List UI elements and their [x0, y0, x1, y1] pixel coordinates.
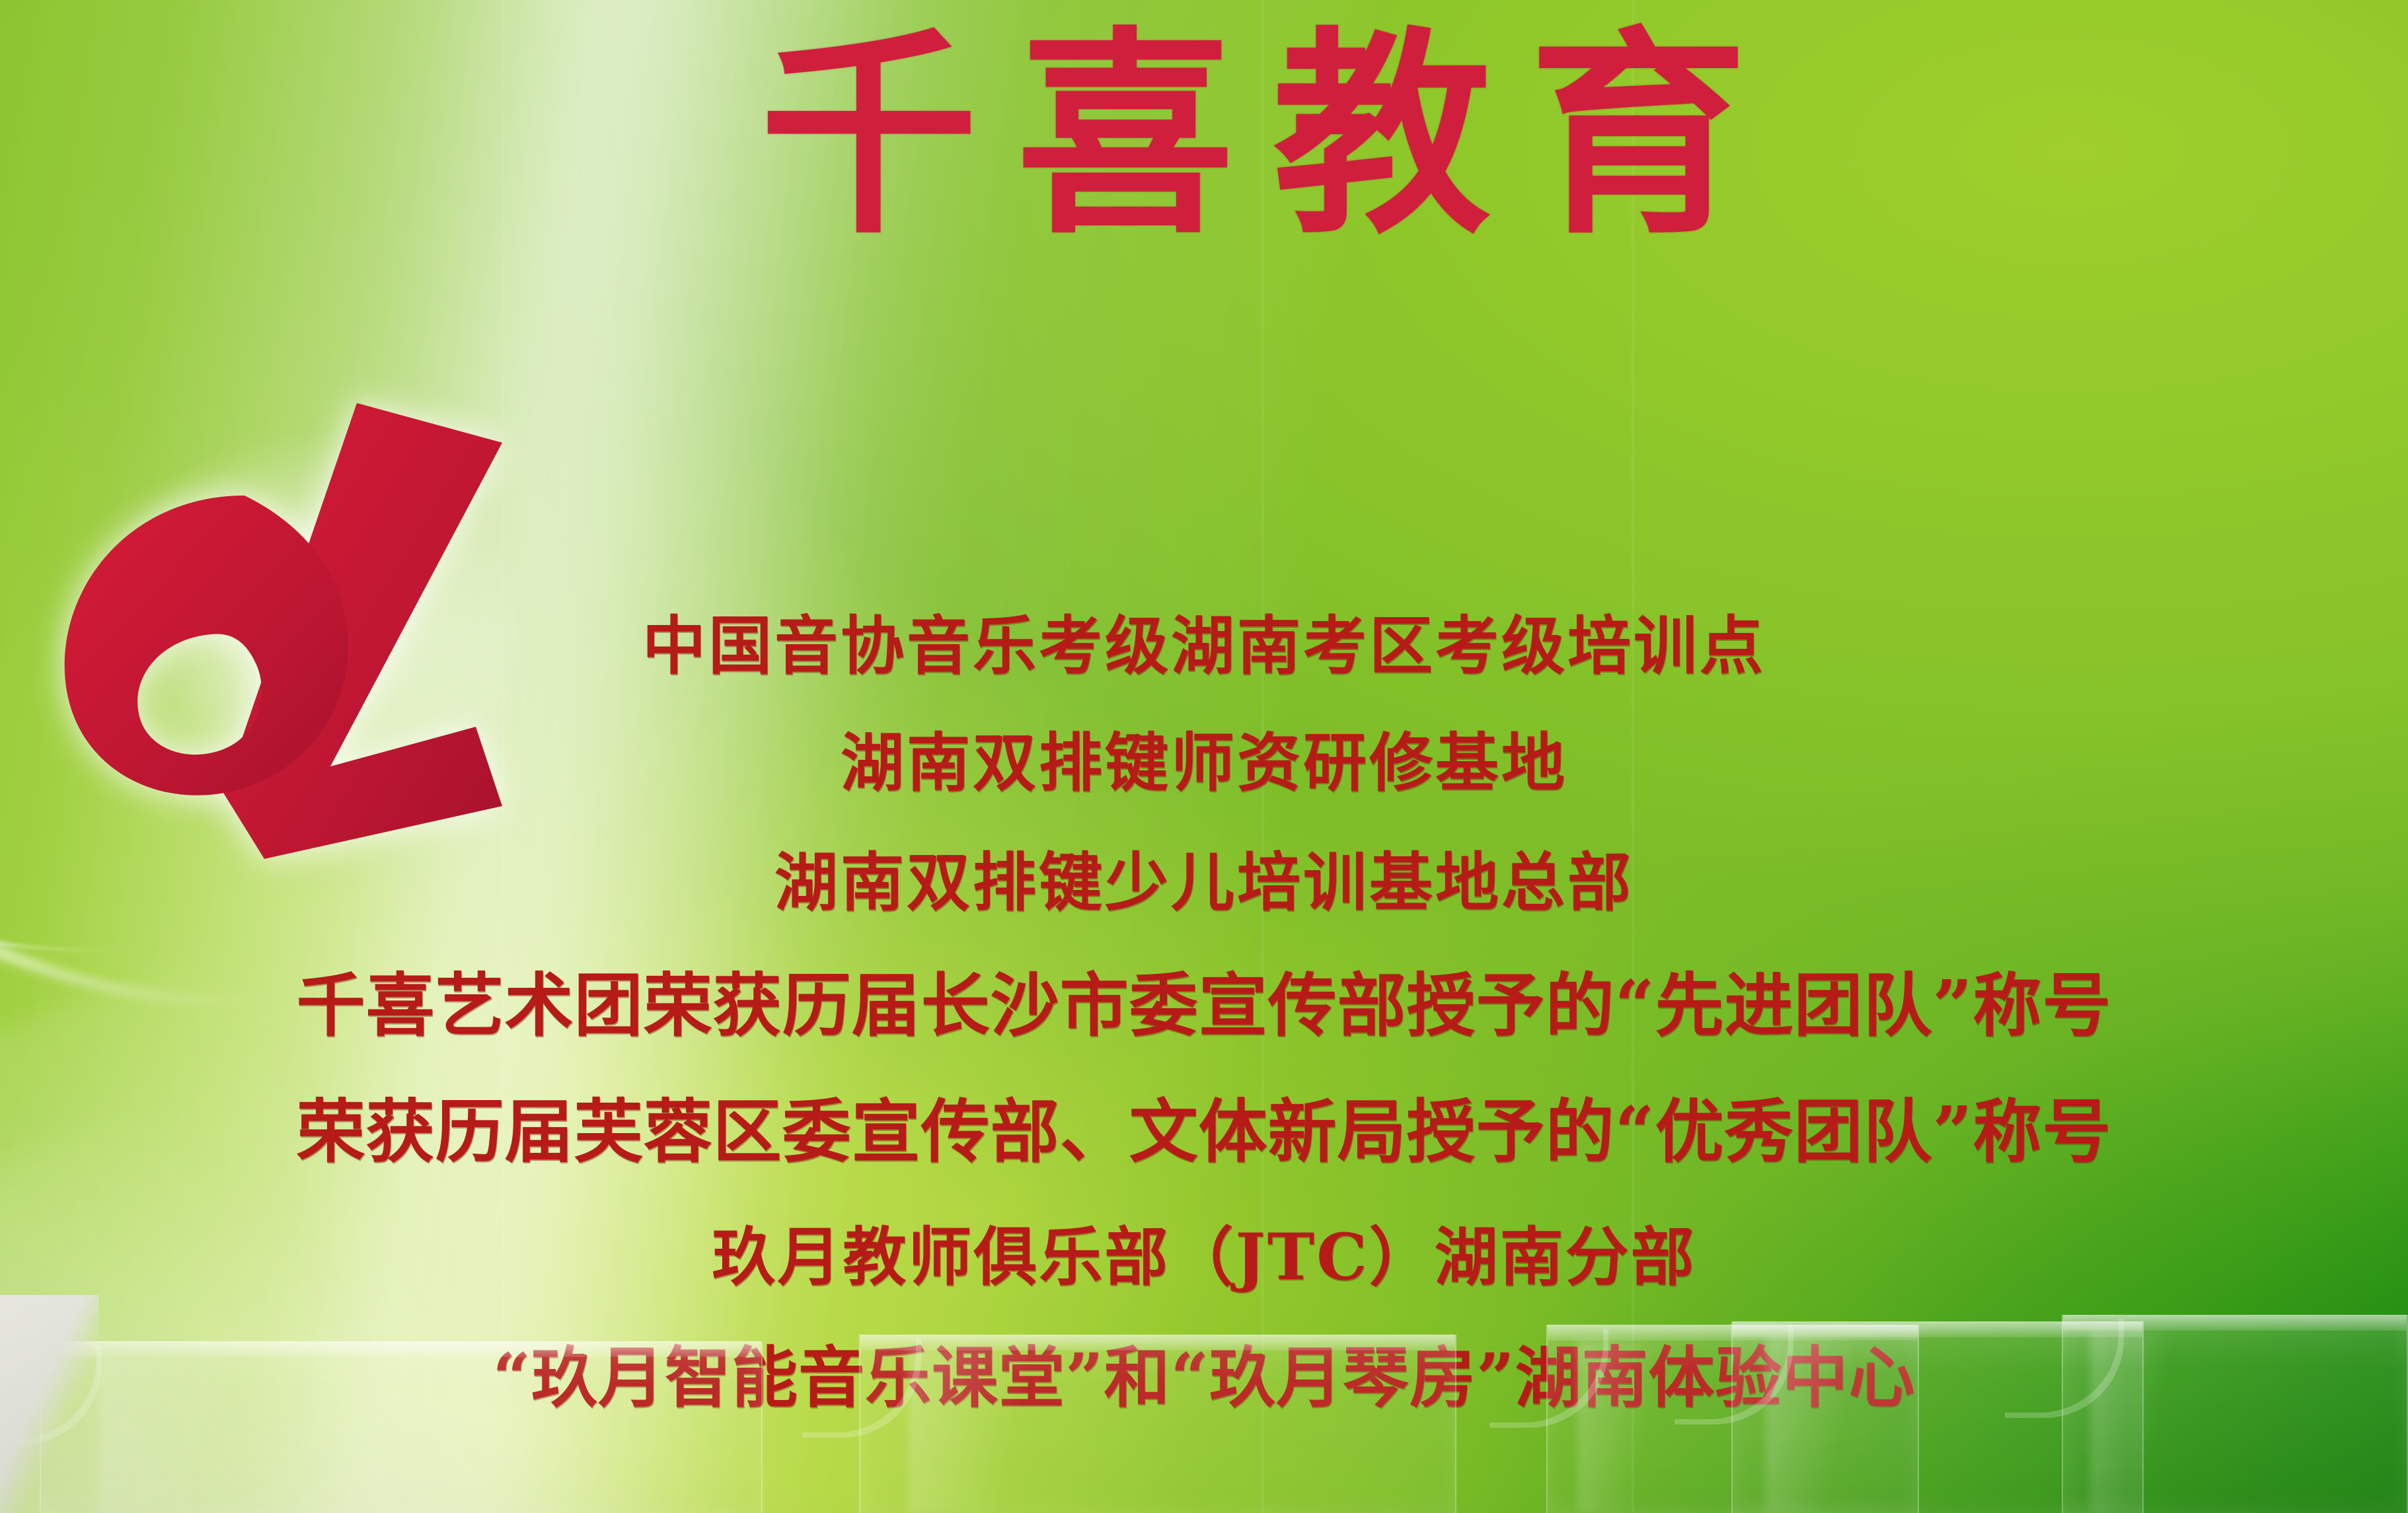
- acrylic-brochure-pocket[interactable]: [40, 1341, 763, 1513]
- pocket-glare: [1766, 1337, 1872, 1513]
- pocket-glare: [1577, 1340, 1674, 1513]
- signboard-photo: 千喜教育 中国音协音乐考级湖南考区考级培训点 湖南双排键师资研修基地 湖南双排键…: [0, 0, 2408, 1513]
- credential-line: 湖南双排键师资研修基地: [0, 712, 2408, 803]
- credential-list: 中国音协音乐考级湖南考区考级培训点 湖南双排键师资研修基地 湖南双排键少儿培训基…: [0, 595, 2408, 1420]
- sign-brand-title: 千喜教育: [0, 24, 2408, 246]
- brochure-pocket-row: [0, 1302, 2408, 1513]
- credential-line: 中国音协音乐考级湖南考区考级培训点: [0, 595, 2408, 686]
- pocket-lip: [2063, 1315, 2407, 1331]
- credential-line: 千喜艺术团荣获历届长沙市委宣传部授予的“先进团队”称号: [0, 949, 2408, 1049]
- wall-edge: [0, 1295, 99, 1513]
- pocket-glare: [908, 1349, 1063, 1513]
- pocket-glare: [2091, 1331, 2180, 1513]
- acrylic-brochure-pocket[interactable]: [859, 1335, 1456, 1513]
- pocket-glare: [98, 1355, 285, 1513]
- credential-line: 湖南双排键少儿培训基地总部: [0, 831, 2408, 923]
- credential-line: 荣获历届芙蓉区委宣传部、文体新局授予的“优秀团队”称号: [0, 1076, 2408, 1175]
- credential-line: 玖月教师俱乐部（JTC）湖南分部: [0, 1206, 2408, 1298]
- pocket-lip: [860, 1335, 1455, 1350]
- acrylic-brochure-pocket[interactable]: [2062, 1315, 2408, 1513]
